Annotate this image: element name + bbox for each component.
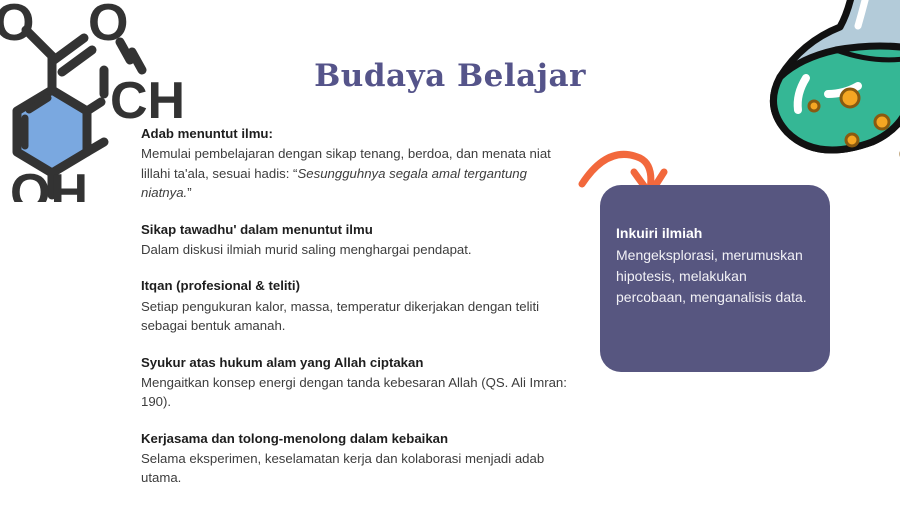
content-block: Syukur atas hukum alam yang Allah ciptak… (141, 353, 573, 412)
block-heading: Adab menuntut ilmu: (141, 124, 573, 143)
callout-card: Inkuiri ilmiah Mengeksplorasi, merumuska… (600, 185, 830, 372)
slide-canvas: O O CH OH Budaya Belajar Adab menu (0, 0, 900, 506)
callout-title: Inkuiri ilmiah (616, 223, 808, 244)
callout-body: Mengeksplorasi, merumuskan hipotesis, me… (616, 245, 808, 308)
block-body: Mengaitkan konsep energi dengan tanda ke… (141, 373, 573, 412)
flask-bubble (846, 134, 858, 146)
block-body-suffix: ” (187, 185, 191, 200)
flask-bubble (875, 115, 889, 129)
block-heading: Kerjasama dan tolong-menolong dalam keba… (141, 429, 573, 448)
content-block: Kerjasama dan tolong-menolong dalam keba… (141, 429, 573, 488)
block-body: Setiap pengukuran kalor, massa, temperat… (141, 297, 573, 336)
flask-bubble (809, 101, 819, 111)
block-body: Dalam diskusi ilmiah murid saling mengha… (141, 240, 573, 260)
molecule-label-o-right: O (88, 0, 128, 52)
block-heading: Sikap tawadhu' dalam menuntut ilmu (141, 220, 573, 239)
content-block: Itqan (profesional & teliti) Setiap peng… (141, 276, 573, 335)
block-body: Memulai pembelajaran dengan sikap tenang… (141, 144, 573, 203)
content-block: Adab menuntut ilmu: Memulai pembelajaran… (141, 124, 573, 203)
page-title: Budaya Belajar (0, 58, 900, 94)
block-body: Selama eksperimen, keselamatan kerja dan… (141, 449, 573, 488)
content-block: Sikap tawadhu' dalam menuntut ilmu Dalam… (141, 220, 573, 260)
molecule-label-o-left: O (0, 0, 34, 52)
block-heading: Itqan (profesional & teliti) (141, 276, 573, 295)
molecule-label-oh: OH (10, 164, 88, 202)
block-heading: Syukur atas hukum alam yang Allah ciptak… (141, 353, 573, 372)
content-column: Adab menuntut ilmu: Memulai pembelajaran… (141, 124, 573, 488)
